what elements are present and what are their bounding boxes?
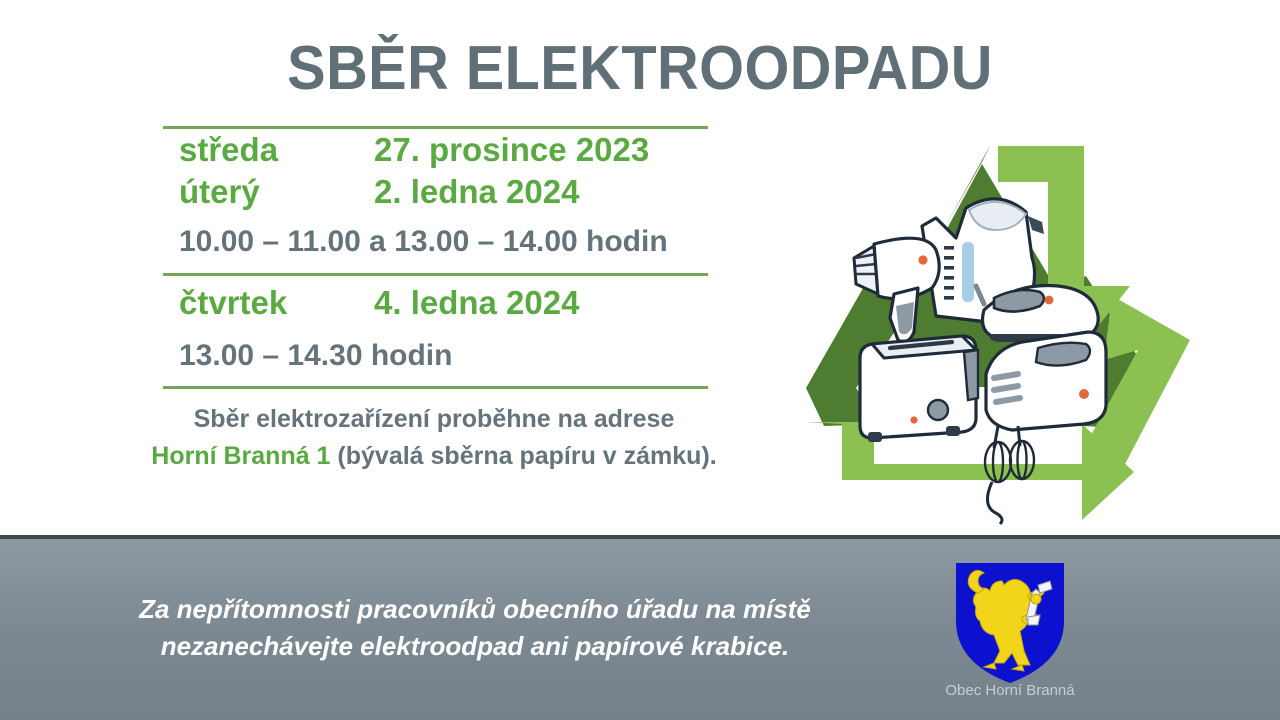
recycling-appliances-illustration — [786, 126, 1206, 528]
divider-bottom — [163, 386, 708, 389]
coat-of-arms-icon — [950, 559, 1070, 687]
poster-root: SBĚR ELEKTROODPADU středa 27. prosince 2… — [0, 0, 1280, 720]
banner-notice-line-2: nezanechávejte elektroodpad ani papírové… — [60, 628, 890, 665]
weekday-label: čtvrtek — [179, 282, 374, 324]
bottom-banner: Za nepřítomnosti pracovníků obecního úřa… — [0, 535, 1280, 720]
date-label: 2. ledna 2024 — [374, 171, 579, 213]
schedule-panel: středa 27. prosince 2023 úterý 2. ledna … — [150, 120, 730, 475]
address-suffix: (bývalá sběrna papíru v zámku). — [330, 442, 716, 470]
hours-label: 13.00 – 14.30 hodin — [179, 333, 730, 378]
address-line-1: Sběr elektrozařízení proběhne na adrese — [144, 401, 724, 438]
address-highlight: Horní Branná 1 — [151, 442, 330, 470]
page-title: SBĚR ELEKTROODPADU — [45, 36, 1235, 101]
date-label: 27. prosince 2023 — [374, 129, 649, 171]
schedule-block-two: čtvrtek 4. ledna 2024 13.00 – 14.30 hodi… — [150, 276, 730, 377]
toaster-icon — [860, 336, 978, 442]
schedule-row: úterý 2. ledna 2024 — [179, 171, 730, 213]
banner-notice: Za nepřítomnosti pracovníků obecního úřa… — [60, 591, 890, 665]
address-line-2: Horní Branná 1 (bývalá sběrna papíru v z… — [144, 438, 724, 475]
hours-label: 10.00 – 11.00 a 13.00 – 14.00 hodin — [179, 219, 730, 264]
schedule-row: středa 27. prosince 2023 — [179, 129, 730, 171]
crest-caption: Obec Horní Branná — [900, 682, 1120, 699]
weekday-label: úterý — [179, 171, 374, 213]
address-block: Sběr elektrozařízení proběhne na adrese … — [144, 401, 724, 475]
schedule-block-one: středa 27. prosince 2023 úterý 2. ledna … — [150, 129, 730, 264]
banner-notice-line-1: Za nepřítomnosti pracovníků obecního úřa… — [60, 591, 890, 628]
weekday-label: středa — [179, 129, 374, 171]
date-label: 4. ledna 2024 — [374, 282, 579, 324]
schedule-row: čtvrtek 4. ledna 2024 — [179, 282, 730, 324]
